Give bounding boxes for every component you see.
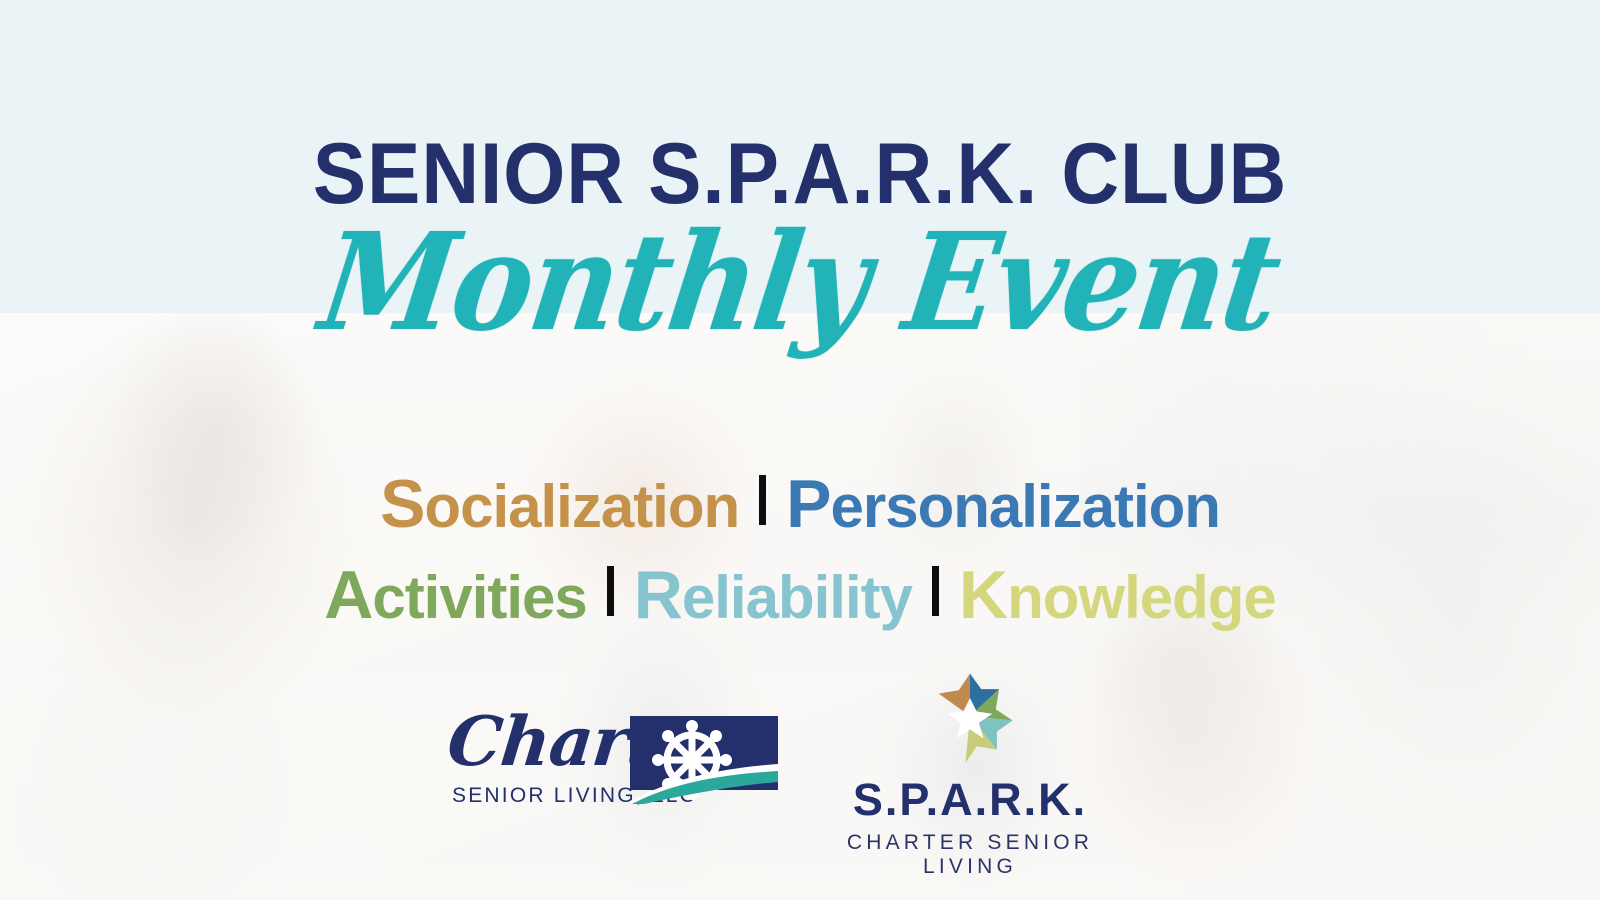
value-word-k: Knowledge	[959, 561, 1276, 630]
logo-row: Charter SENIOR LIVING, LLC	[0, 690, 1600, 830]
value-separator	[759, 475, 766, 525]
value-word-body: ocialization	[424, 473, 739, 540]
value-separator	[932, 566, 939, 616]
value-word-a: Activities	[324, 561, 587, 630]
ships-wheel-icon	[630, 716, 778, 804]
charter-senior-living-logo: Charter SENIOR LIVING, LLC	[448, 698, 778, 818]
five-point-pinwheel-star-icon	[805, 660, 1135, 772]
spark-tagline: CHARTER SENIOR LIVING	[805, 831, 1135, 879]
value-word-initial: R	[634, 557, 682, 633]
value-word-initial: P	[786, 466, 830, 542]
value-word-initial: S	[380, 466, 424, 542]
spark-values-list: SocializationPersonalization ActivitiesR…	[0, 470, 1600, 631]
value-word-body: eliability	[682, 564, 912, 631]
value-word-initial: A	[324, 557, 372, 633]
value-word-initial: K	[959, 557, 1007, 633]
script-subtitle: Monthly Event	[0, 204, 1600, 362]
value-word-body: ersonalization	[831, 473, 1220, 540]
spark-wordmark: S.P.A.R.K.	[805, 774, 1135, 826]
value-word-body: ctivities	[372, 564, 586, 631]
values-row-2: ActivitiesReliabilityKnowledge	[0, 561, 1600, 630]
poster-canvas: SENIOR S.P.A.R.K. CLUB Monthly Event Soc…	[0, 0, 1600, 900]
values-row-1: SocializationPersonalization	[0, 470, 1600, 539]
value-separator	[607, 566, 614, 616]
value-word-p: Personalization	[786, 470, 1220, 539]
value-word-r: Reliability	[634, 561, 912, 630]
value-word-body: nowledge	[1007, 564, 1276, 631]
spark-logo: S.P.A.R.K. CHARTER SENIOR LIVING	[805, 660, 1135, 830]
value-word-s: Socialization	[380, 470, 739, 539]
